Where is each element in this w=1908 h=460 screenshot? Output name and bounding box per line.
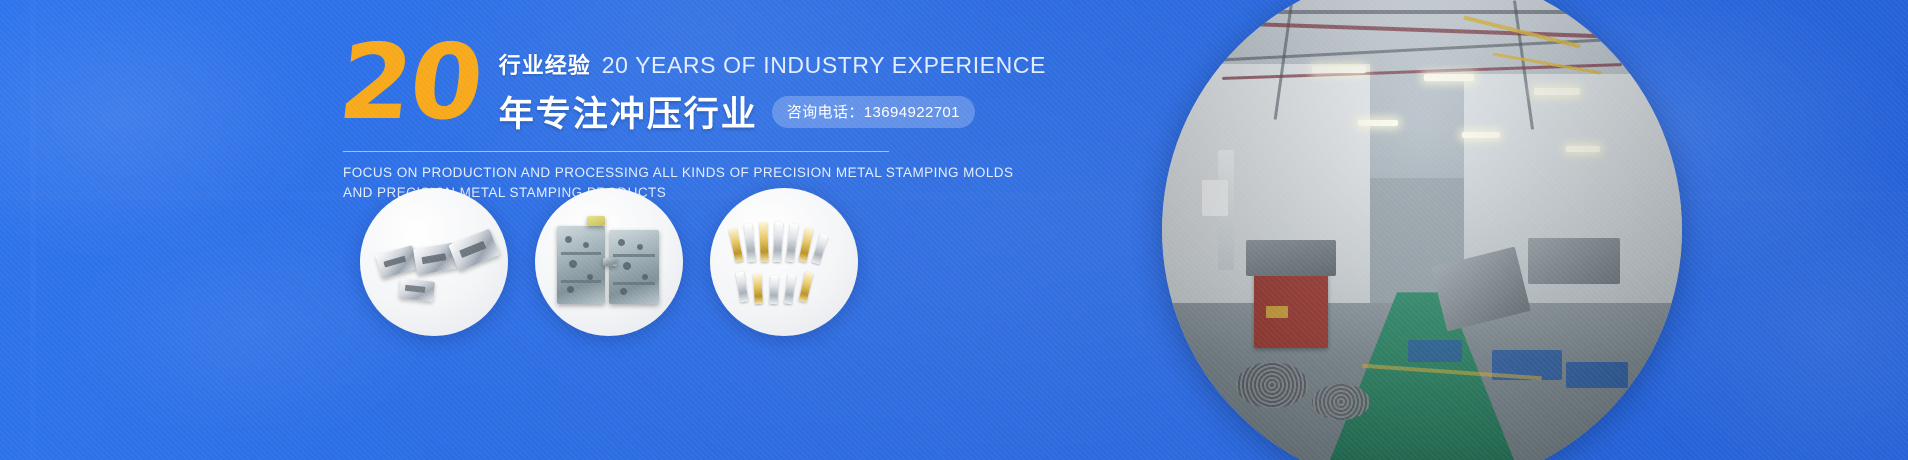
usb-shell-icon xyxy=(399,278,435,301)
product-circle-terminal-pins[interactable] xyxy=(710,188,858,336)
terminal-pin-icon xyxy=(799,271,814,302)
factory-photo-circle[interactable] xyxy=(1162,0,1682,460)
usb-shell-icon xyxy=(448,229,499,271)
industry-experience-en: 20 YEARS OF INDUSTRY EXPERIENCE xyxy=(602,52,1046,79)
terminal-pin-icon xyxy=(812,233,828,264)
photo-shading xyxy=(1162,0,1682,460)
product-circle-usb-connector-shells[interactable] xyxy=(360,188,508,336)
die-brass-insert-icon xyxy=(587,216,605,226)
terminal-pin-icon xyxy=(729,228,744,263)
headline-block: 20 行业经验 20 YEARS OF INDUSTRY EXPERIENCE … xyxy=(340,38,900,204)
product-circle-stamping-die[interactable] xyxy=(535,188,683,336)
terminal-pin-icon xyxy=(744,224,756,263)
die-block-left-icon xyxy=(557,226,605,304)
die-block-right-icon xyxy=(609,230,659,304)
industry-experience-cn: 行业经验 xyxy=(499,48,591,80)
terminal-pin-icon xyxy=(753,274,763,304)
terminal-pin-icon xyxy=(770,276,779,304)
terminal-pin-icon xyxy=(773,222,783,262)
terminal-pin-icon xyxy=(759,222,768,262)
consult-phone-badge[interactable]: 咨询电话：13694922701 xyxy=(772,96,975,128)
description-line-1: FOCUS ON PRODUCTION AND PROCESSING ALL K… xyxy=(343,163,900,183)
promo-banner: 20 行业经验 20 YEARS OF INDUSTRY EXPERIENCE … xyxy=(0,0,1908,460)
die-link-icon xyxy=(603,258,617,266)
years-number: 20 xyxy=(336,40,486,125)
terminal-pin-icon xyxy=(784,274,796,305)
focus-stamping-cn: 年专注冲压行业 xyxy=(499,86,758,137)
usb-shell-icon xyxy=(375,245,418,279)
terminal-pin-icon xyxy=(736,272,749,303)
terminal-pin-icon xyxy=(786,224,799,263)
divider xyxy=(343,151,889,152)
terminal-pin-icon xyxy=(799,228,814,263)
